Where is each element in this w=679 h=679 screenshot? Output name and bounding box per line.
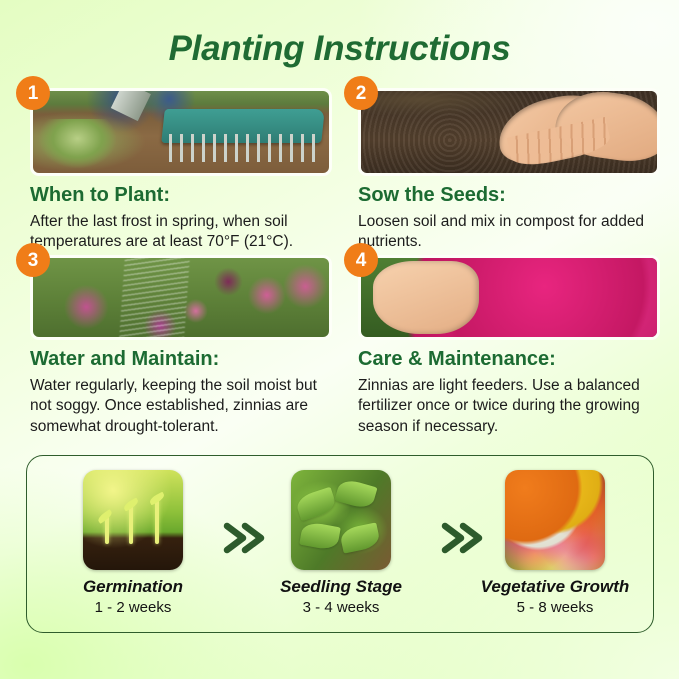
young-green-leaves-thumbnail [291,470,391,570]
zinnia-flower-bed-thumbnail [505,470,605,570]
stage-duration: 3 - 4 weeks [257,599,425,616]
step-3-photo [30,255,332,340]
step-badge-4: 4 [344,243,378,277]
timeline-stage-vegetative-growth: Vegetative Growth 5 - 8 weeks [471,470,639,616]
step-1-photo [30,88,332,176]
seedlings-sprouting-thumbnail [83,470,183,570]
step-3-heading: Water and Maintain: [30,348,219,371]
step-badge-2: 2 [344,76,378,110]
stage-name: Vegetative Growth [471,577,639,597]
step-2-body: Loosen soil and mix in compost for added… [358,212,658,253]
step-2-heading: Sow the Seeds: [358,184,506,207]
step-1-body: After the last frost in spring, when soi… [30,212,322,253]
hands-in-soil-photo [361,91,657,173]
step-4-photo [358,255,660,340]
stage-name: Germination [49,577,217,597]
step-badge-3: 3 [16,243,50,277]
timeline-stage-germination: Germination 1 - 2 weeks [49,470,217,616]
hand-holding-pink-zinnia-photo [361,258,657,337]
stage-name: Seedling Stage [257,577,425,597]
step-3-body: Water regularly, keeping the soil moist … [30,376,322,437]
timeline-stage-seedling: Seedling Stage 3 - 4 weeks [257,470,425,616]
stage-duration: 5 - 8 weeks [471,599,639,616]
step-badge-1: 1 [16,76,50,110]
step-4-heading: Care & Maintenance: [358,348,556,371]
page-title: Planting Instructions [0,29,679,69]
watering-zinnia-bed-photo [33,258,329,337]
stage-duration: 1 - 2 weeks [49,599,217,616]
step-4-body: Zinnias are light feeders. Use a balance… [358,376,658,437]
gardener-raking-soil-photo [33,91,329,173]
planting-instructions-poster: Planting Instructions 1 When to Plant: A… [0,0,679,679]
growth-timeline-panel: Germination 1 - 2 weeks Seedling Stage 3… [26,455,654,633]
step-1-heading: When to Plant: [30,184,170,207]
step-2-photo [358,88,660,176]
